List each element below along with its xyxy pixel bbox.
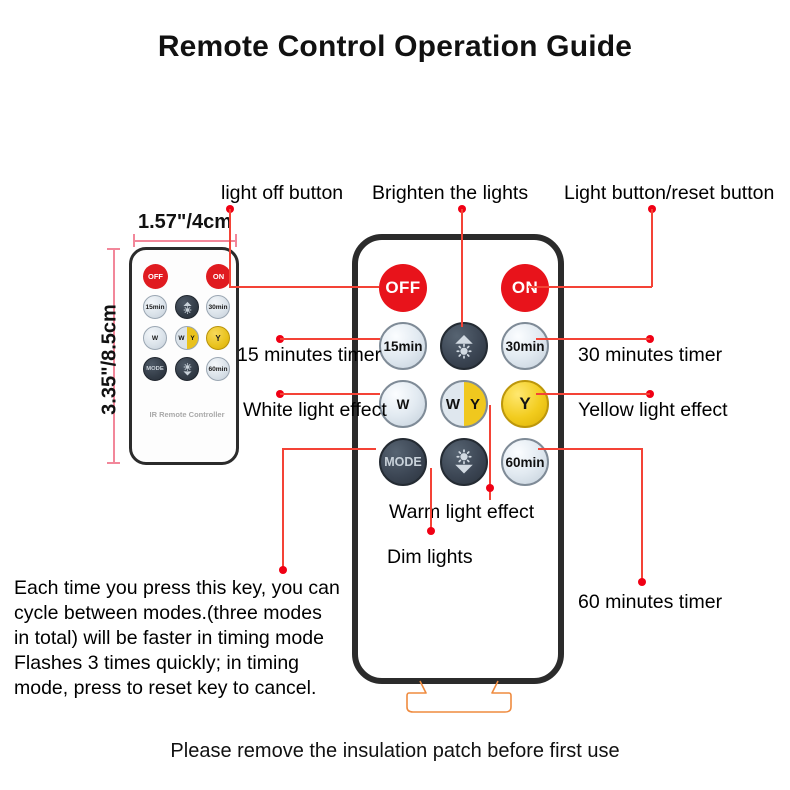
leader-timer-60-v: [641, 448, 643, 580]
dimension-cap-left: [133, 234, 135, 247]
leader-timer-60-h: [538, 448, 642, 450]
annotation-dim-lights: Dim lights: [387, 546, 473, 568]
small-remote-brand-label: IR Remote Controller: [132, 410, 242, 419]
leader-white-effect-h: [280, 393, 380, 395]
timer-60min-button[interactable]: 60min: [501, 438, 549, 486]
annotation-brighten: Brighten the lights: [372, 182, 528, 204]
dimension-line-width: [133, 240, 237, 242]
leader-light-off-v: [229, 209, 231, 287]
brightness-up-icon: [449, 331, 479, 361]
annotation-light-off: light off button: [221, 182, 343, 204]
warm-left-label: W: [442, 396, 464, 413]
leader-light-reset-h: [528, 286, 652, 288]
on-button[interactable]: ON: [501, 264, 549, 312]
leader-timer-15-h: [280, 338, 380, 340]
dimension-label-height: 3.35"/8.5cm: [99, 290, 122, 430]
mode-button[interactable]: MODE: [379, 438, 427, 486]
small-yellow-button[interactable]: Y: [206, 326, 230, 350]
brighten-button[interactable]: [440, 322, 488, 370]
leader-light-reset-v: [651, 209, 653, 287]
timer-30min-button[interactable]: 30min: [501, 322, 549, 370]
small-remote-body: OFF ON 15min: [129, 247, 239, 465]
small-30min-button[interactable]: 30min: [206, 295, 230, 319]
small-warm-right-label: Y: [187, 335, 198, 342]
dimension-cap-top: [107, 248, 120, 250]
small-white-button[interactable]: W: [143, 326, 167, 350]
dimension-cap-right: [235, 234, 237, 247]
annotation-timer-60: 60 minutes timer: [578, 591, 722, 613]
annotation-mode-description: Each time you press this key, you can cy…: [14, 576, 364, 701]
warm-right-label: Y: [464, 396, 486, 413]
leader-mode-h: [282, 448, 376, 450]
leader-light-off-h: [229, 286, 379, 288]
dimension-label-width: 1.57"/4cm: [138, 211, 232, 234]
brightness-down-icon: [449, 447, 479, 477]
leader-dim-lights-v: [430, 468, 432, 530]
small-60min-button[interactable]: 60min: [206, 357, 230, 381]
small-remote-keypad: OFF ON 15min: [141, 264, 233, 382]
dim-button[interactable]: [440, 438, 488, 486]
dimension-cap-bottom: [107, 462, 120, 464]
leader-dot-timer-60: [638, 578, 646, 586]
page-title: Remote Control Operation Guide: [0, 30, 790, 64]
annotation-warm-effect: Warm light effect: [389, 501, 534, 523]
off-button[interactable]: OFF: [379, 264, 427, 312]
small-mode-button[interactable]: MODE: [143, 357, 167, 381]
small-15min-button[interactable]: 15min: [143, 295, 167, 319]
annotation-light-reset: Light button/reset button: [564, 182, 774, 204]
annotation-white-effect: White light effect: [243, 399, 387, 421]
guide-page: Remote Control Operation Guide 1.57"/4cm…: [0, 0, 790, 790]
brightness-down-icon: [180, 362, 195, 377]
small-warm-button[interactable]: W Y: [175, 326, 199, 350]
large-remote-body: OFF ON 15min: [352, 234, 564, 684]
leader-brighten-v: [461, 209, 463, 327]
small-off-button[interactable]: OFF: [143, 264, 168, 289]
leader-yellow-effect-h: [536, 393, 650, 395]
leader-dot-mode: [279, 566, 287, 574]
small-dim-button[interactable]: [175, 357, 199, 381]
small-on-button[interactable]: ON: [206, 264, 231, 289]
annotation-yellow-effect: Yellow light effect: [578, 399, 728, 421]
warm-light-button[interactable]: W Y: [440, 380, 488, 428]
timer-15min-button[interactable]: 15min: [379, 322, 427, 370]
insulation-patch: [406, 680, 512, 713]
leader-mode-v: [282, 448, 284, 568]
bottom-caption: Please remove the insulation patch befor…: [0, 740, 790, 763]
yellow-light-button[interactable]: Y: [501, 380, 549, 428]
leader-dot-warm-effect: [486, 484, 494, 492]
small-warm-left-label: W: [176, 335, 187, 342]
annotation-timer-15: 15 minutes timer: [237, 344, 381, 366]
annotation-timer-30: 30 minutes timer: [578, 344, 722, 366]
brightness-up-icon: [180, 300, 195, 315]
leader-dot-dim-lights: [427, 527, 435, 535]
large-remote-keypad: OFF ON 15min: [379, 264, 549, 486]
leader-timer-30-h: [536, 338, 650, 340]
small-brighten-button[interactable]: [175, 295, 199, 319]
